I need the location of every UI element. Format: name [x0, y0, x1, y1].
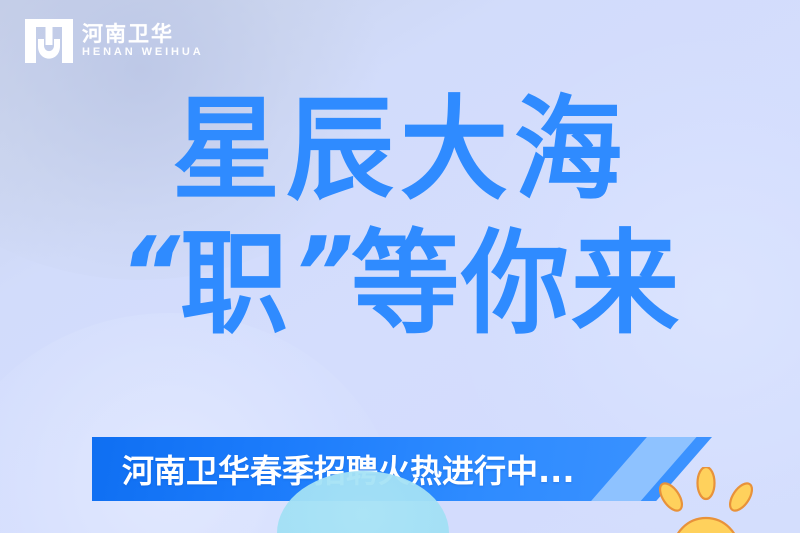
- logo-wordmark: 河南卫华 HENAN WEIHUA: [82, 24, 204, 58]
- headline-line-2-rest: 等你来: [351, 220, 681, 350]
- weihua-crane-logo-icon: [25, 19, 73, 63]
- logo-chinese-name: 河南卫华: [82, 24, 204, 45]
- company-logo: 河南卫华 HENAN WEIHUA: [25, 19, 204, 63]
- poster-headline: 星辰大海 “职”等你来: [0, 96, 800, 340]
- headline-keyword: 职: [180, 220, 290, 350]
- recruitment-poster: 河南卫华 HENAN WEIHUA 星辰大海 “职”等你来 河南卫华春季招聘火热…: [0, 0, 800, 533]
- quote-open-icon: “: [110, 224, 190, 324]
- headline-line-1: 星辰大海: [0, 94, 800, 209]
- sun-icon: [648, 467, 764, 533]
- quote-close-icon: ”: [281, 224, 361, 324]
- logo-english-name: HENAN WEIHUA: [82, 47, 204, 58]
- headline-line-2: “职”等你来: [0, 228, 800, 343]
